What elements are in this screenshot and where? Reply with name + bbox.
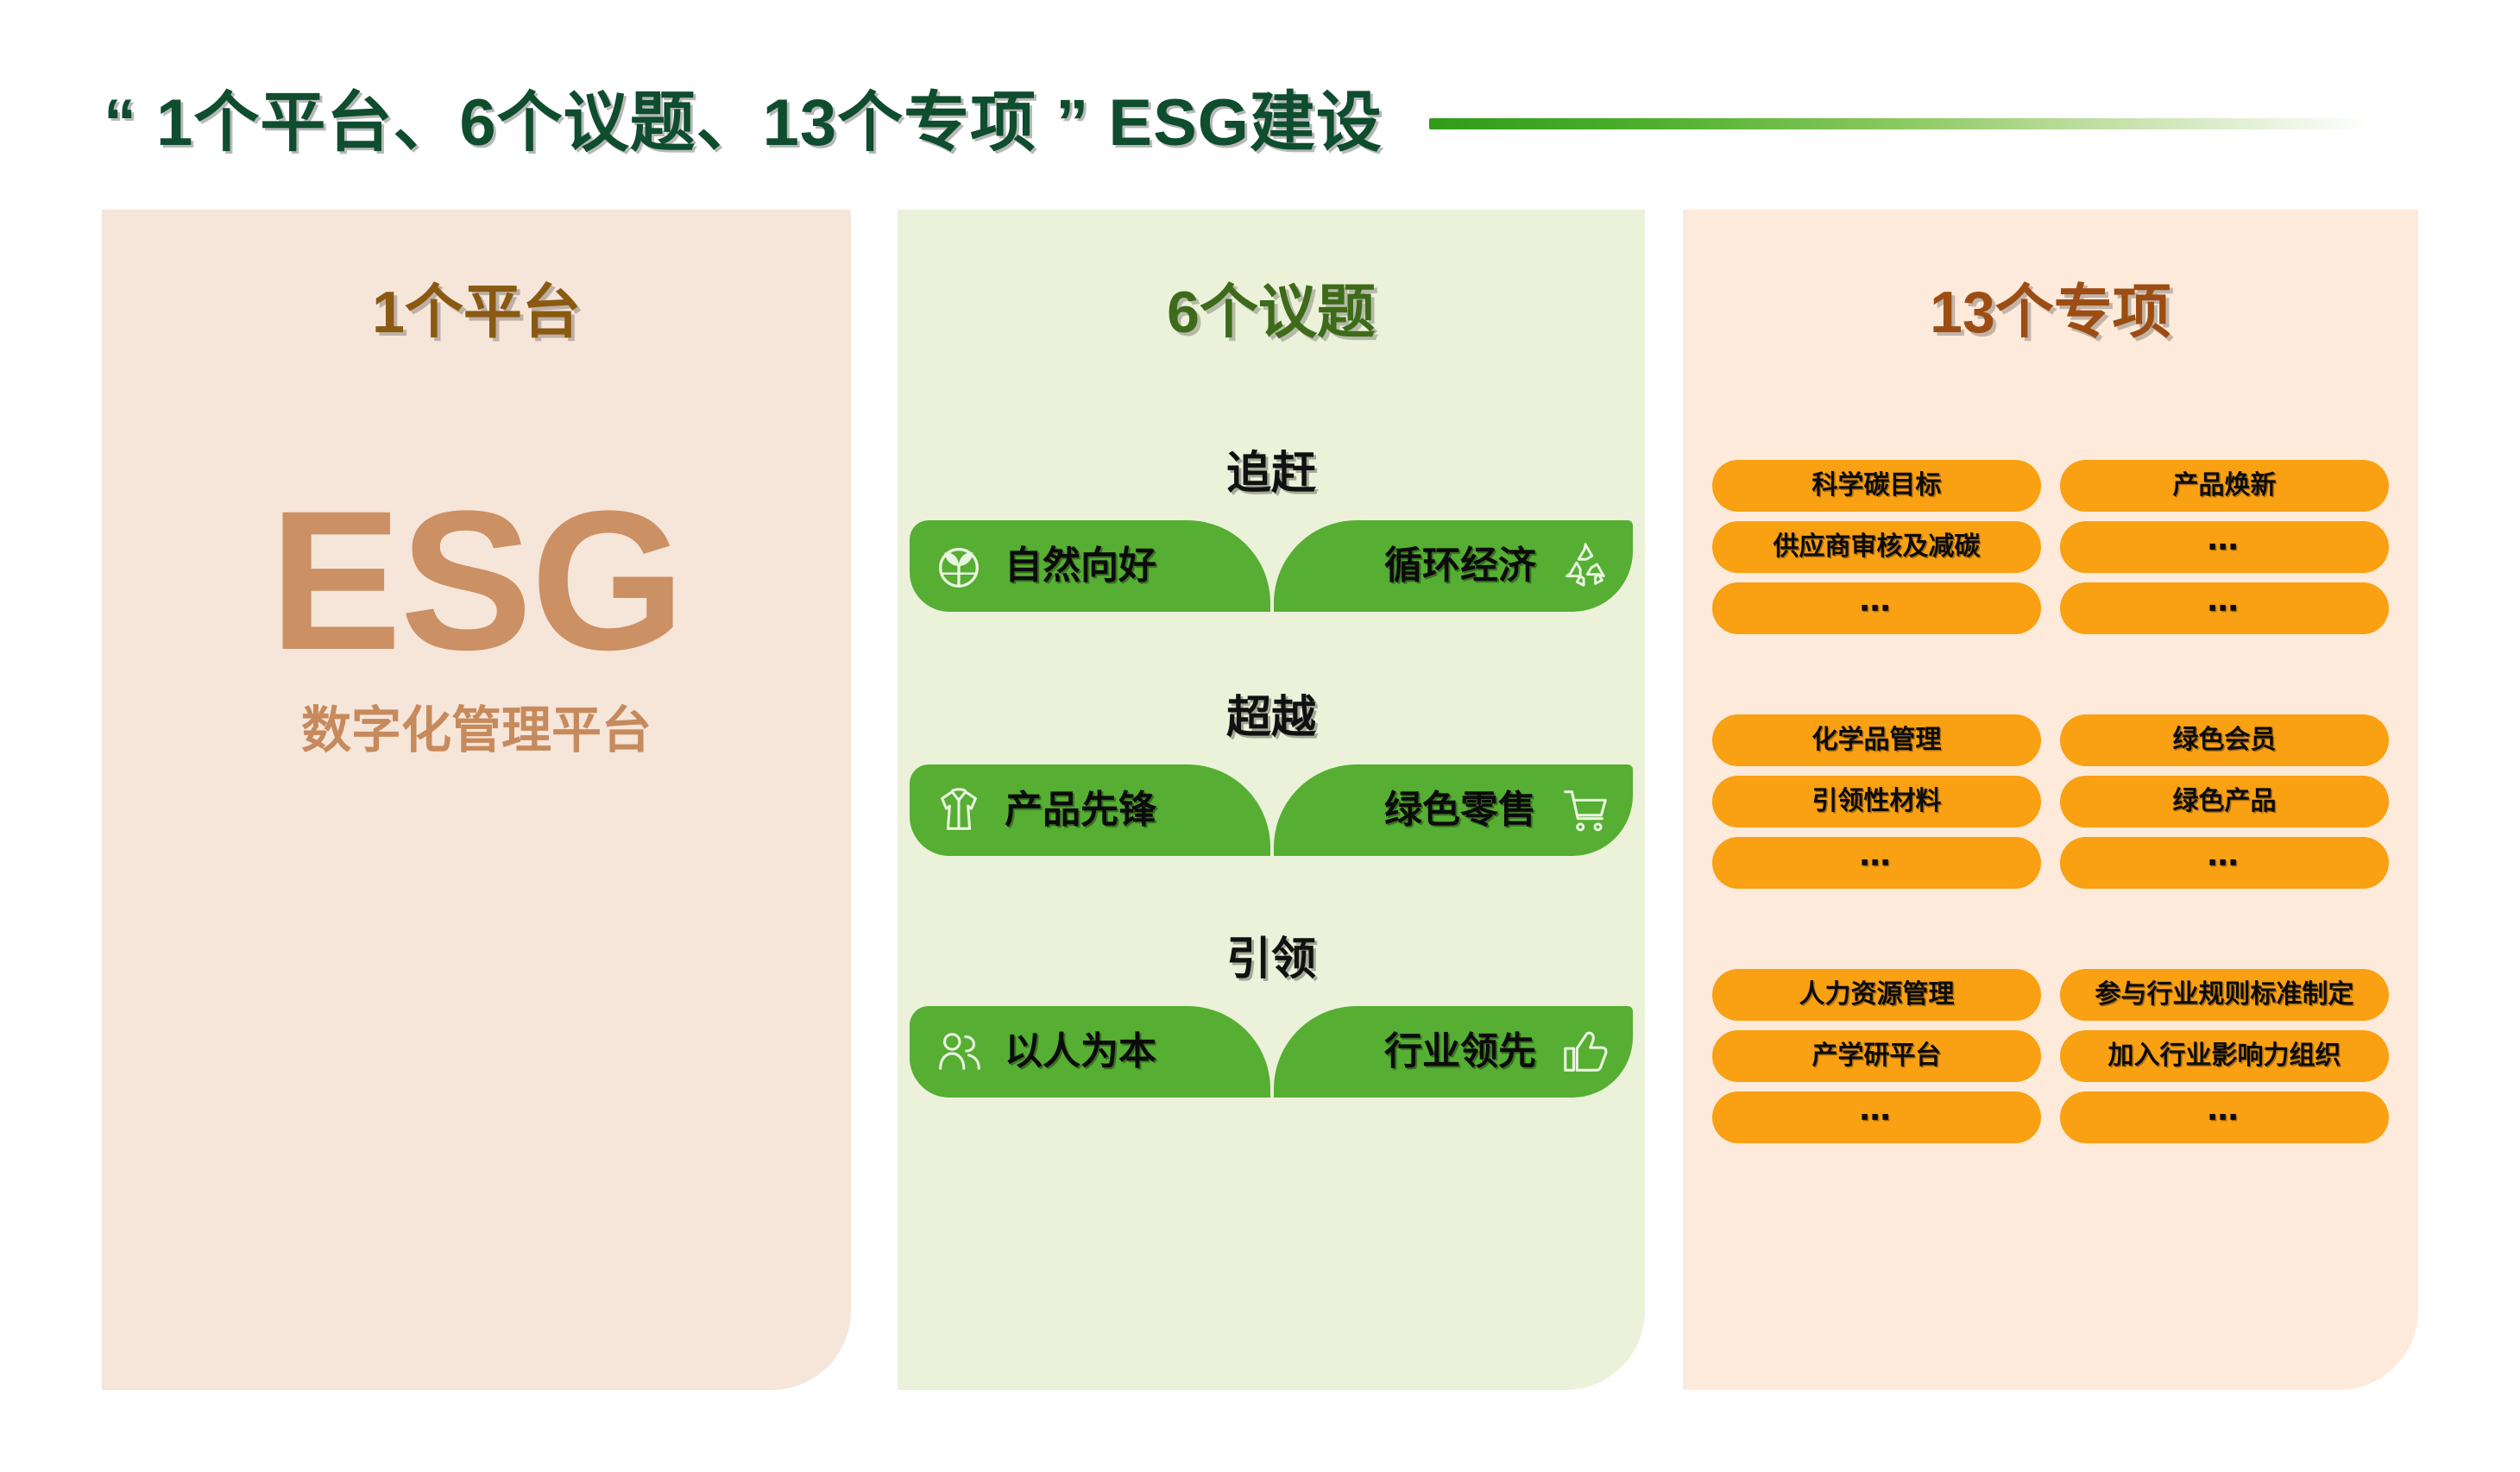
panel-platform: 1个平台 ESG 数字化管理平台 xyxy=(102,210,851,1390)
topic-row: 自然向好 循环经济 xyxy=(910,520,1633,612)
spec-pill-more[interactable]: ⋯ xyxy=(1712,837,2041,889)
spec-column-left: 科学碳目标 供应商审核及减碳 ⋯ xyxy=(1712,460,2041,634)
spec-pill[interactable]: 供应商审核及减碳 xyxy=(1712,521,2041,573)
topic-card-nature-positive[interactable]: 自然向好 xyxy=(910,520,1270,612)
spec-pill[interactable]: 参与行业规则标准制定 xyxy=(2060,969,2389,1021)
spec-group-3: 人力资源管理 产学研平台 ⋯ 参与行业规则标准制定 加入行业影响力组织 ⋯ xyxy=(1712,969,2389,1143)
topic-card-circular-economy[interactable]: 循环经济 xyxy=(1274,520,1633,612)
spec-pill[interactable]: 加入行业影响力组织 xyxy=(2060,1030,2389,1082)
panel-topics: 6个议题 追赶 自然向好 xyxy=(898,210,1645,1390)
topic-row: 产品先锋 绿色零售 xyxy=(910,764,1633,856)
header-gradient-rule xyxy=(1429,118,2370,129)
topic-card-label: 循环经济 xyxy=(1384,547,1536,585)
topic-group-lead: 引领 以人为本 行业领先 xyxy=(910,937,1633,1098)
spec-pill[interactable]: 绿色产品 xyxy=(2060,776,2389,827)
topic-card-product-pioneer[interactable]: 产品先锋 xyxy=(910,764,1270,856)
topic-card-label: 自然向好 xyxy=(1005,547,1156,585)
slide-canvas: “ 1个平台、6个议题、13个专项 ” ESG建设 1个平台 ESG 数字化管理… xyxy=(0,0,2520,1472)
slide-header: “ 1个平台、6个议题、13个专项 ” ESG建设 xyxy=(104,91,2370,156)
sprout-icon xyxy=(932,539,986,593)
recycle-icon xyxy=(1559,539,1612,593)
topic-row: 以人为本 行业领先 xyxy=(910,1006,1633,1098)
topic-card-label: 绿色零售 xyxy=(1384,791,1536,829)
topic-card-label: 行业领先 xyxy=(1384,1033,1536,1071)
topic-card-label: 以人为本 xyxy=(1005,1033,1156,1071)
topic-card-people-first[interactable]: 以人为本 xyxy=(910,1006,1270,1098)
spec-pill-more[interactable]: ⋯ xyxy=(1712,582,2041,634)
topic-group-surpass: 超越 产品先锋 绿色零售 xyxy=(910,695,1633,856)
panel-topics-heading: 6个议题 xyxy=(898,283,1645,342)
spec-pill[interactable]: 绿色会员 xyxy=(2060,714,2389,766)
spec-pill[interactable]: 引领性材料 xyxy=(1712,776,2041,827)
spec-pill-more[interactable]: ⋯ xyxy=(2060,837,2389,889)
panel-specials: 13个专项 科学碳目标 供应商审核及减碳 ⋯ 产品焕新 ⋯ ⋯ 化学品管理 引领… xyxy=(1683,210,2418,1390)
spec-pill[interactable]: 人力资源管理 xyxy=(1712,969,2041,1021)
spec-column-right: 参与行业规则标准制定 加入行业影响力组织 ⋯ xyxy=(2060,969,2389,1143)
page-title: “ 1个平台、6个议题、13个专项 ” ESG建设 xyxy=(104,91,1383,156)
panel-specials-heading: 13个专项 xyxy=(1683,283,2418,342)
spec-pill-more[interactable]: ⋯ xyxy=(2060,521,2389,573)
spec-pill-more[interactable]: ⋯ xyxy=(2060,582,2389,634)
topic-card-green-retail[interactable]: 绿色零售 xyxy=(1274,764,1633,856)
spec-column-left: 化学品管理 引领性材料 ⋯ xyxy=(1712,714,2041,889)
spec-pill[interactable]: 化学品管理 xyxy=(1712,714,2041,766)
topic-group-label: 超越 xyxy=(910,695,1633,740)
topic-group-label: 追赶 xyxy=(910,451,1633,496)
thumbs-up-icon xyxy=(1559,1025,1612,1079)
spec-pill-more[interactable]: ⋯ xyxy=(2060,1091,2389,1143)
spec-pill[interactable]: 产学研平台 xyxy=(1712,1030,2041,1082)
spec-column-right: 产品焕新 ⋯ ⋯ xyxy=(2060,460,2389,634)
spec-pill[interactable]: 产品焕新 xyxy=(2060,460,2389,512)
esg-wordmark: ESG xyxy=(102,481,851,680)
topic-group-chase: 追赶 自然向好 循环经济 xyxy=(910,451,1633,612)
spec-column-right: 绿色会员 绿色产品 ⋯ xyxy=(2060,714,2389,889)
spec-group-1: 科学碳目标 供应商审核及减碳 ⋯ 产品焕新 ⋯ ⋯ xyxy=(1712,460,2389,634)
panel-platform-heading: 1个平台 xyxy=(102,283,851,342)
topic-card-label: 产品先锋 xyxy=(1005,791,1156,829)
spec-pill[interactable]: 科学碳目标 xyxy=(1712,460,2041,512)
esg-subtitle: 数字化管理平台 xyxy=(102,706,851,756)
topic-group-label: 引领 xyxy=(910,937,1633,982)
spec-group-2: 化学品管理 引领性材料 ⋯ 绿色会员 绿色产品 ⋯ xyxy=(1712,714,2389,889)
spec-column-left: 人力资源管理 产学研平台 ⋯ xyxy=(1712,969,2041,1143)
jacket-icon xyxy=(932,783,986,837)
spec-pill-more[interactable]: ⋯ xyxy=(1712,1091,2041,1143)
shopping-cart-icon xyxy=(1559,783,1612,837)
people-icon xyxy=(932,1025,986,1079)
topic-card-industry-leading[interactable]: 行业领先 xyxy=(1274,1006,1633,1098)
